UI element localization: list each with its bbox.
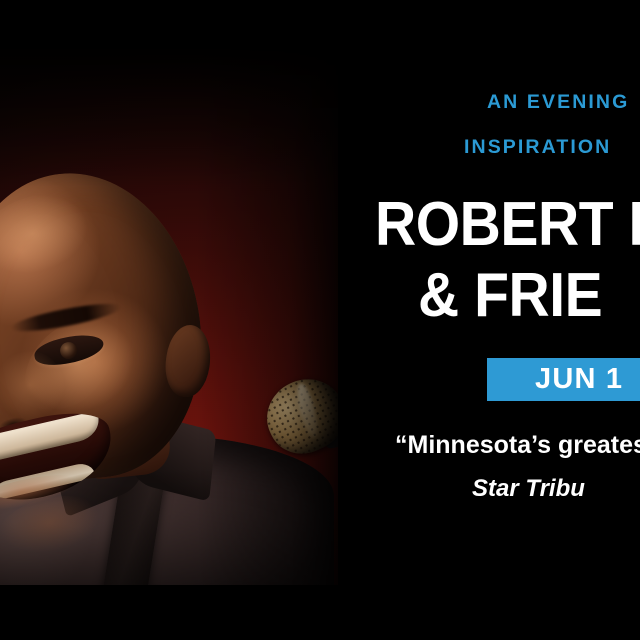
pull-quote-source: Star Tribu bbox=[472, 477, 585, 501]
kicker-line-1: AN EVENING bbox=[487, 93, 629, 113]
photo-vignette bbox=[0, 47, 338, 585]
promo-text-column: AN EVENING INSPIRATION ROBERT RO & FRIE … bbox=[338, 0, 640, 640]
headline-line-2: & FRIE bbox=[418, 265, 602, 327]
pull-quote: “Minnesota’s greatest bbox=[395, 433, 640, 458]
date-badge-label: JUN 1 bbox=[535, 365, 623, 394]
kicker-line-2: INSPIRATION bbox=[464, 138, 611, 158]
performer-photo bbox=[0, 47, 338, 585]
event-promo-banner: AN EVENING INSPIRATION ROBERT RO & FRIE … bbox=[0, 0, 640, 640]
date-badge[interactable]: JUN 1 bbox=[487, 358, 640, 401]
headline-line-1: ROBERT RO bbox=[375, 194, 640, 256]
